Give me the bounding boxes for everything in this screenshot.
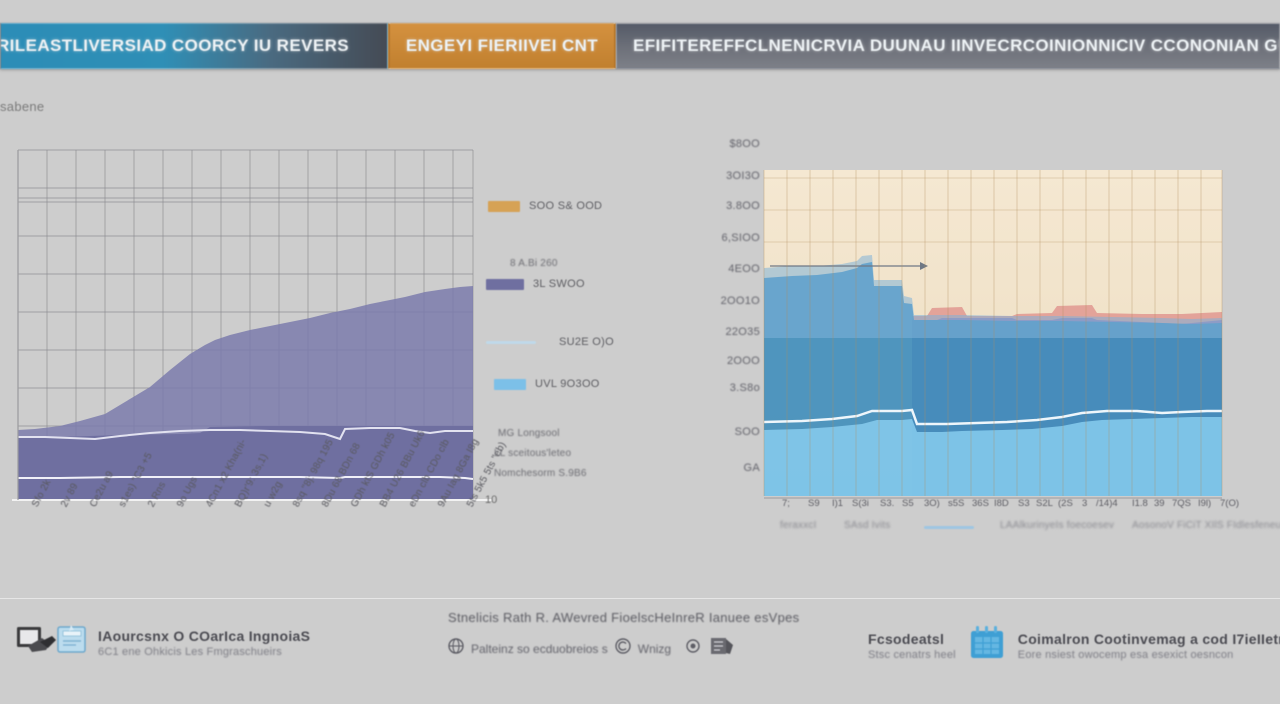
y-label: 3.S8o [730, 382, 760, 394]
legend-swatch-orange [488, 201, 520, 212]
x-label: 7QS [1172, 498, 1191, 509]
x-label: 3O) [924, 498, 940, 509]
legend-label: UVL 9O3OO [535, 378, 600, 390]
document-screen-icon [54, 622, 90, 663]
footer-right-block[interactable]: Fcsodeatsl Stsc cenatrs heel Coimalron C… [868, 624, 1280, 667]
right-stacked-area-chart[interactable] [762, 168, 1220, 498]
tab-overview-label: RILEASTLIVERSIAD COORCY IU REVERS [0, 36, 349, 56]
x-label: 39 [1154, 498, 1165, 509]
footer-right-text: Coimalron Cootinvemag a cod I7ieIIetre. … [1018, 631, 1280, 661]
legend-item-3[interactable]: LAAlkurinyeIs foecoesev [1000, 520, 1114, 531]
x-label: I9l) [1198, 498, 1211, 509]
tab-efficiency-annual-economic-label: EFIFITEREFFCLNENICRVIA DUUNAU IINVECRCOI… [633, 36, 1280, 56]
y-label: 3OI3O [726, 170, 760, 182]
legend-swatch-lightblue [494, 379, 526, 390]
tab-overview[interactable]: RILEASTLIVERSIAD COORCY IU REVERS [0, 23, 388, 69]
y-label: 6,SIOO [722, 232, 760, 244]
footer-middle-row[interactable]: Palteinz so ecduobreios s Wnizg [448, 636, 735, 661]
monitor-icon [16, 624, 58, 661]
tab-efficiency-annual-economic[interactable]: EFIFITEREFFCLNENICRVIA DUUNAU IINVECRCOI… [616, 23, 1280, 69]
x-label: I1.8 [1132, 498, 1148, 509]
copyright-icon[interactable] [615, 638, 631, 659]
y-label: SOO [735, 426, 760, 438]
legend-note-3: Nomchesorm S.9B6 [494, 468, 587, 479]
legend-item-lightline[interactable]: SU2E O)O [486, 336, 614, 348]
y-label: 2OO1O [721, 295, 760, 307]
legend-swatch-purple [486, 279, 524, 290]
x-label: S2L [1036, 498, 1053, 509]
legend-value-purple-top: 8 A.Bi 260 [510, 258, 558, 269]
right-chart-x-labels: 7; S9 I)1 S(3i S3. S5 3O) s5S 36S I8D S3… [762, 498, 1232, 516]
legend-item-1[interactable]: feraxxcI [780, 520, 817, 531]
footer-middle-title: Stnelicis Rath R. AWevred FioelscHeInreR… [448, 610, 799, 625]
tab-energy-efficiency-label: ENGEYI FIERIIVEI CNT [406, 36, 598, 56]
footer-right-label-title: Fcsodeatsl [868, 631, 944, 647]
legend-note-2: LL sceitous'leteo [494, 448, 571, 459]
x-label: /14)4 [1096, 498, 1118, 509]
footer-left-subtitle: 6C1 ene Ohkicis Les Fmgraschueirs [98, 646, 310, 658]
footer-left-title: IAourcsnx O COarIca IngnoiaS [98, 628, 310, 644]
x-label: 3 [1082, 498, 1087, 509]
y-label: $8OO [729, 138, 760, 150]
footer-right-subtitle: Eore nsiest owocemp esa esexict oesncon [1018, 649, 1280, 661]
legend-swatch-line [486, 341, 536, 344]
x-label: I)1 [832, 498, 843, 509]
y-label: GA [744, 462, 761, 474]
header-tab-bar: RILEASTLIVERSIAD COORCY IU REVERS ENGEYI… [0, 23, 1280, 69]
right-chart-y-labels: $8OO 3OI3O 3.8OO 6,SIOO 4EOO 2OO1O 22O35… [690, 130, 760, 480]
footer-right-title: Coimalron Cootinvemag a cod I7ieIIetre. [1018, 631, 1280, 647]
right-chart-canvas [762, 168, 1232, 500]
x-label: S5 [902, 498, 914, 509]
left-area-chart[interactable] [0, 140, 500, 510]
legend-item-lightblue[interactable]: UVL 9O3OO [494, 378, 600, 390]
globe-icon[interactable] [448, 638, 464, 659]
legend-swatch-line [924, 526, 974, 529]
y-label: 2OOO [727, 355, 760, 367]
x-label: S3. [880, 498, 894, 509]
calendar-icon [965, 624, 1009, 667]
x-label: 36S [972, 498, 989, 509]
footer-right-label: Fcsodeatsl Stsc cenatrs heel [868, 631, 956, 661]
x-label: 7(O) [1220, 498, 1239, 509]
y-label: 3.8OO [726, 200, 760, 212]
legend-note-1: MG Longsool [498, 428, 560, 439]
legend-item-4[interactable]: AosonoV FiCiT XIlS FIdlesfeneu [1132, 520, 1280, 531]
left-chart-x-labels: Sfo 2k 2v 89 Ce2u a9 s1es) "C3 +5 2 Rns … [0, 502, 500, 562]
legend-label: SU2E O)O [559, 336, 614, 348]
x-label: (2S [1058, 498, 1073, 509]
x-label: S9 [808, 498, 820, 509]
footer-divider [0, 598, 1280, 599]
x-label: S(3i [852, 498, 869, 509]
footer-middle-text-1: Palteinz so ecduobreios s [471, 642, 608, 656]
section-subtitle: sabene [0, 99, 44, 114]
left-chart-legend: SOO S& OOD 8 A.Bi 260 3L SWOO SU2E O)O U… [486, 190, 666, 490]
camera-icon[interactable] [686, 638, 706, 659]
footer-left-text: IAourcsnx O COarIca IngnoiaS 6C1 ene Ohk… [98, 628, 310, 658]
footer-right-label-sub: Stsc cenatrs heel [868, 649, 956, 661]
footer-left-block[interactable]: IAourcsnx O COarIca IngnoiaS 6C1 ene Ohk… [16, 622, 310, 663]
right-chart-legend: feraxxcI SAsd Ivits LAAlkurinyeIs foecoe… [762, 518, 1262, 540]
book-icon[interactable] [709, 636, 735, 661]
dashboard-page: RILEASTLIVERSIAD COORCY IU REVERS ENGEYI… [0, 0, 1280, 704]
left-chart-canvas [0, 140, 500, 510]
footer-middle-text-2: Wnizg [638, 642, 671, 656]
x-label: s5S [948, 498, 964, 509]
x-label: I8D [994, 498, 1009, 509]
legend-item-2[interactable]: SAsd Ivits [844, 520, 890, 531]
x-label: 7; [782, 498, 790, 509]
legend-item-purple[interactable]: 3L SWOO [486, 278, 585, 290]
legend-label: 3L SWOO [533, 278, 585, 290]
legend-label: SOO S& OOD [529, 200, 602, 212]
legend-item-orange[interactable]: SOO S& OOD [488, 200, 602, 212]
y-label: 22O35 [725, 326, 760, 338]
y-label: 4EOO [728, 263, 760, 275]
tab-energy-efficiency[interactable]: ENGEYI FIERIIVEI CNT [388, 23, 616, 69]
x-label: S3 [1018, 498, 1030, 509]
